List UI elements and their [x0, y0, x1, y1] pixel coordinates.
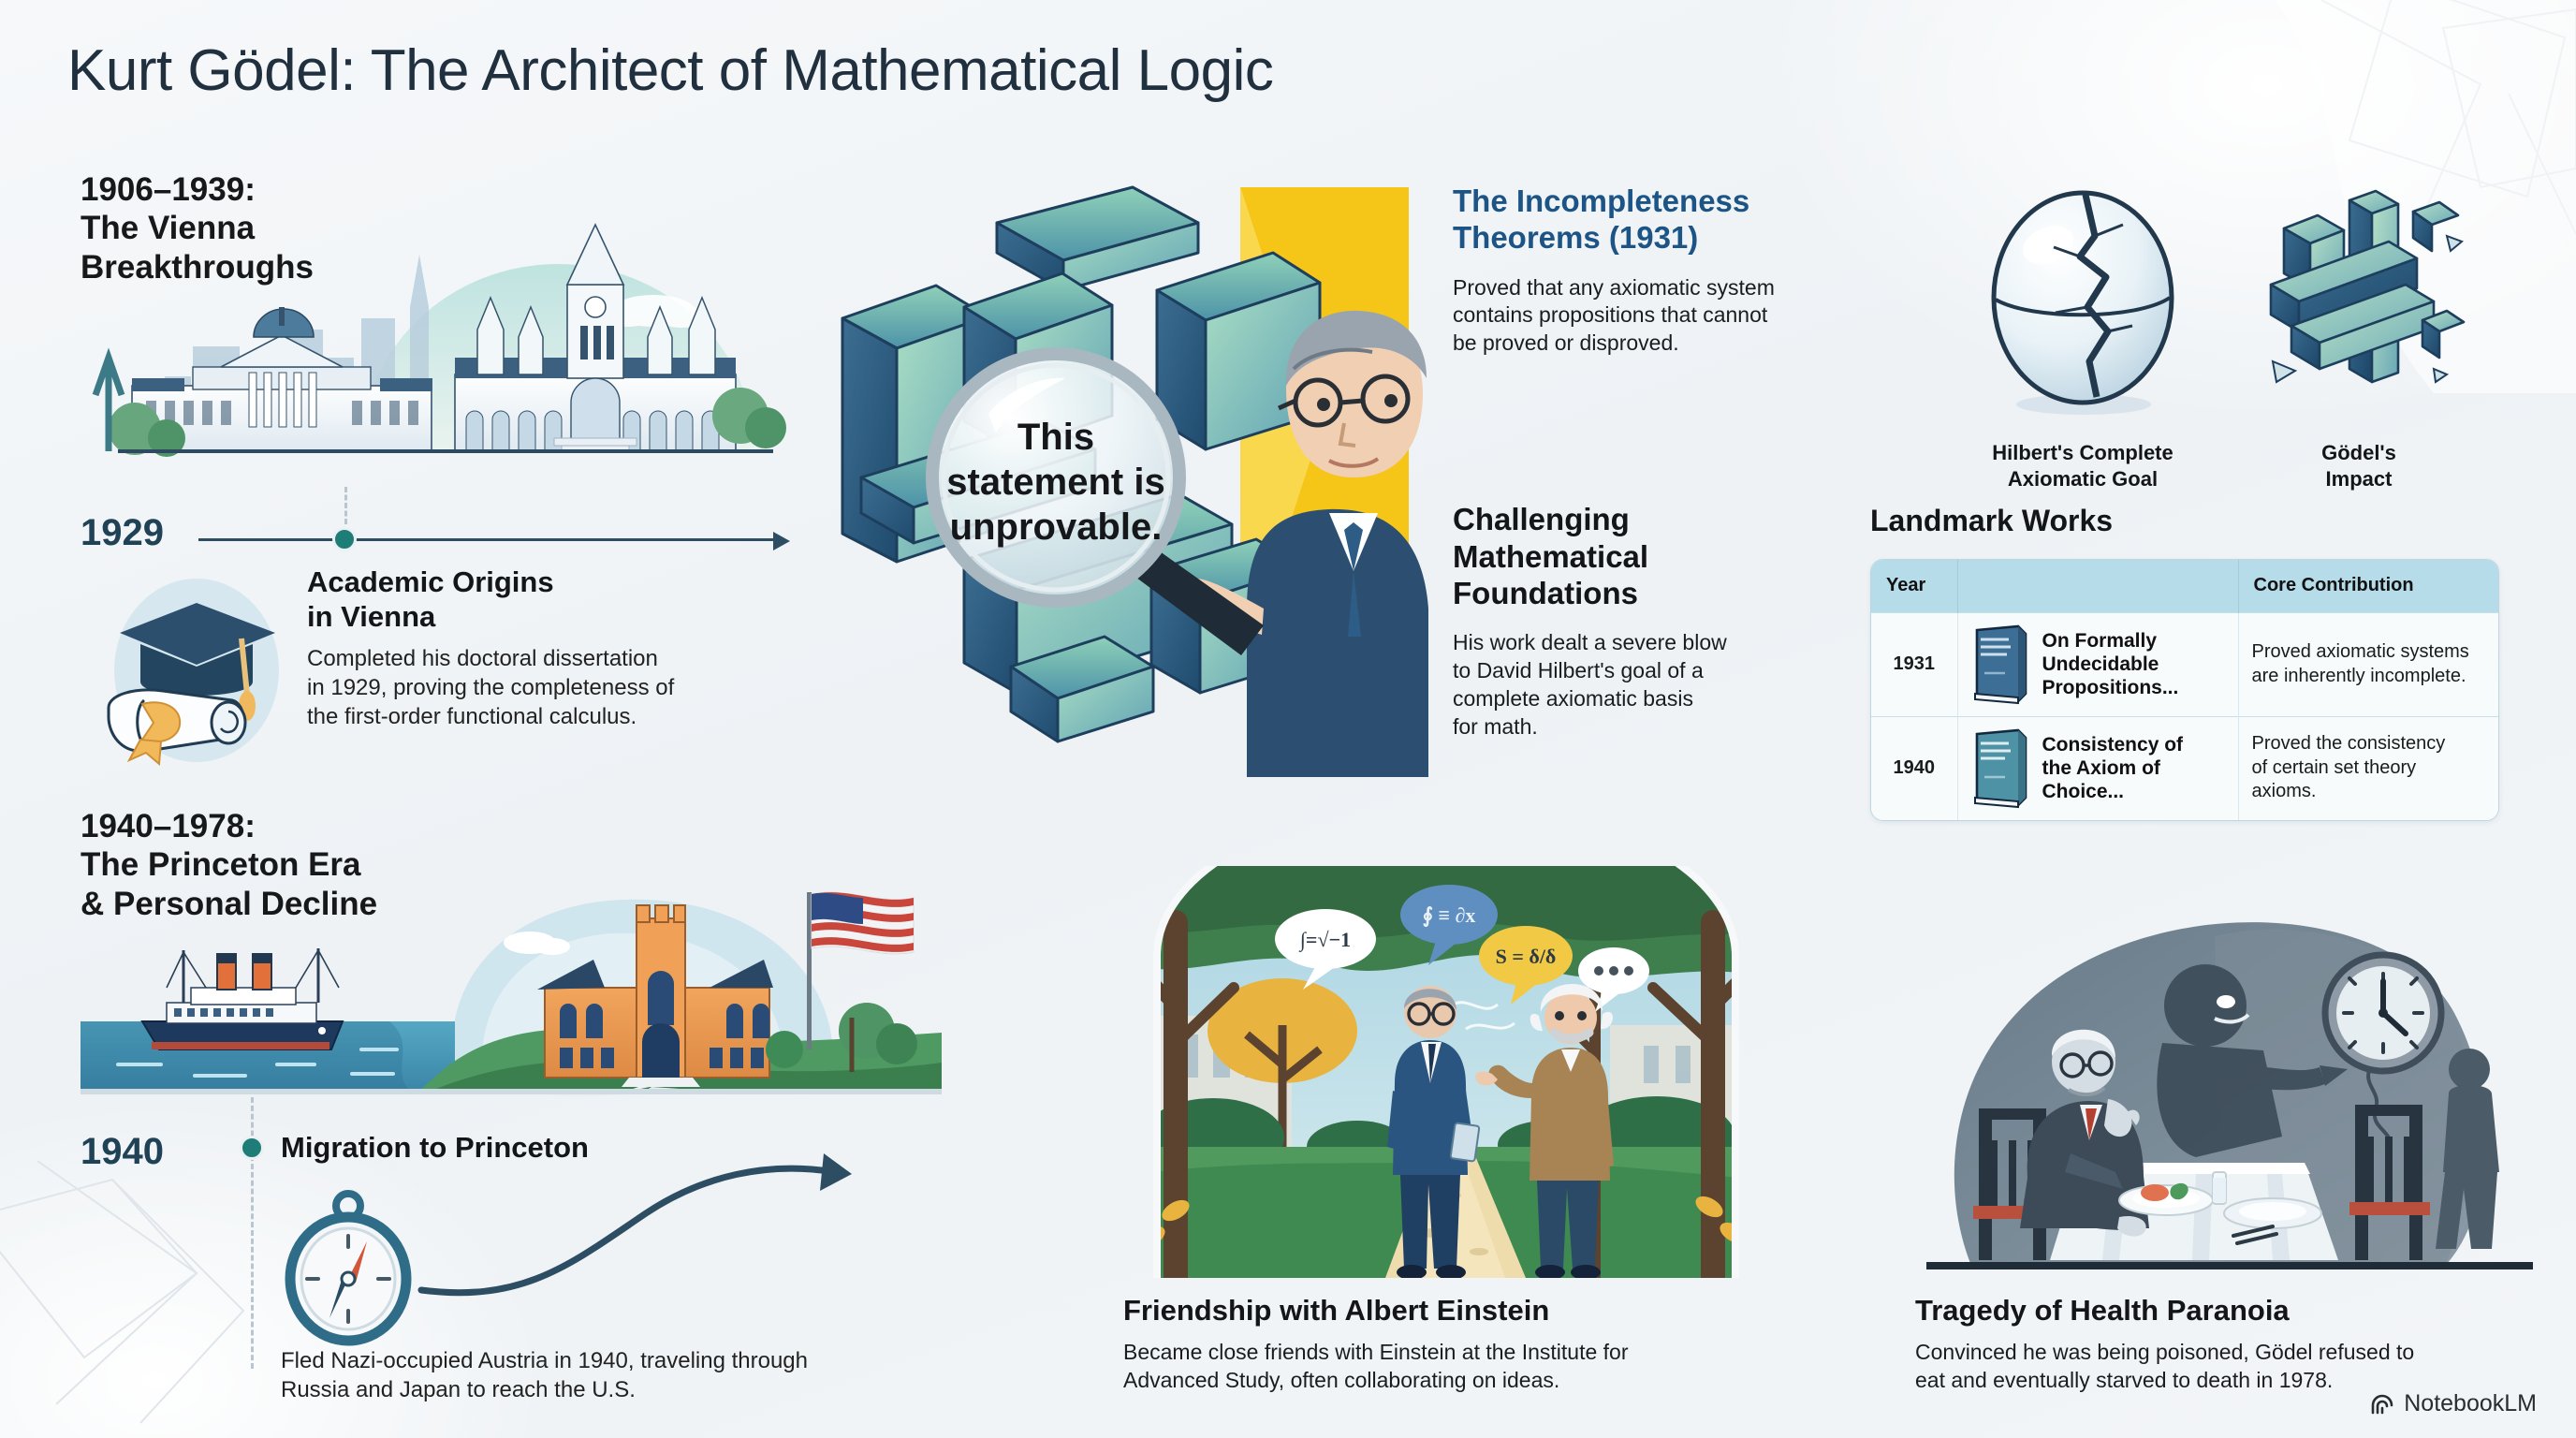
broken-lattice-icon [2239, 183, 2473, 422]
caption-body-paranoia: Convinced he was being poisoned, Gödel r… [1915, 1339, 2552, 1395]
svg-text:statement is: statement is [946, 462, 1164, 503]
work-title-1931: On Formally Undecidable Propositions... [2042, 629, 2179, 700]
notebooklm-label: NotebookLM [2404, 1390, 2537, 1417]
cell-work-1931: On Formally Undecidable Propositions... [1957, 612, 2238, 716]
icon-caption-hilbert-goal: Hilbert's Complete Axiomatic Goal [1928, 440, 2237, 492]
svg-text:S = δ/δ: S = δ/δ [1496, 945, 1557, 968]
caption-title-einstein: Friendship with Albert Einstein [1123, 1294, 1549, 1328]
incompleteness-theorems-title: The Incompleteness Theorems (1931) [1453, 183, 1749, 257]
cell-work-1940: Consistency of the Axiom of Choice... [1957, 716, 2238, 820]
cell-year-1931: 1931 [1871, 612, 1957, 716]
cracked-sphere-icon [1975, 187, 2190, 421]
graduation-cap-diploma-icon [92, 567, 298, 769]
godel-dining-shadow-clock-illustration [1915, 891, 2544, 1275]
godel-impossible-cube-magnifier-illustration: This statement is unprovable. [824, 169, 1432, 777]
table-row: 1931 On Forma [1871, 612, 2498, 716]
migration-curved-arrow [412, 1152, 880, 1339]
godel-einstein-walking-park-illustration: ∫=√−1 ∮ ≡ ∂x S = δ/δ [1123, 866, 1769, 1278]
notebooklm-watermark: NotebookLM [2369, 1390, 2537, 1417]
work-title-1940: Consistency of the Axiom of Choice... [2042, 733, 2184, 804]
book-icon [1971, 624, 2029, 705]
svg-text:∮ ≡ ∂x: ∮ ≡ ∂x [1423, 903, 1476, 928]
block-body-academic-origins: Completed his doctoral dissertation in 1… [307, 644, 794, 732]
caption-body-einstein: Became close friends with Einstein at th… [1123, 1339, 1778, 1395]
icon-caption-godel-impact: Gödel's Impact [2247, 440, 2471, 492]
cell-contribution-1940: Proved the consistency of certain set th… [2238, 716, 2498, 820]
svg-text:This: This [1017, 417, 1094, 458]
block-title-migration: Migration to Princeton [281, 1131, 589, 1166]
timeline-year-1929: 1929 [80, 512, 164, 554]
timeline-arrowhead-1 [773, 532, 790, 550]
book-icon [1971, 728, 2029, 809]
cell-contribution-1931: Proved axiomatic systems are inherently … [2238, 612, 2498, 716]
column-header-work [1957, 560, 2238, 612]
challenging-foundations-title: Challenging Mathematical Foundations [1453, 501, 1648, 612]
block-body-migration: Fled Nazi-occupied Austria in 1940, trav… [281, 1346, 861, 1404]
column-header-year: Year [1871, 560, 1957, 612]
princeton-campus-ocean-liner-illustration [80, 847, 942, 1100]
table-header-row: Year Core Contribution [1871, 560, 2498, 612]
timeline-year-1940: 1940 [80, 1131, 164, 1173]
cell-year-1940: 1940 [1871, 716, 1957, 820]
timeline-marker-1929 [332, 527, 357, 551]
page-title: Kurt Gödel: The Architect of Mathematica… [67, 37, 1273, 104]
timeline-marker-1940 [240, 1136, 264, 1160]
timeline-connector-dash-1 [344, 487, 347, 524]
notebooklm-logo-icon [2369, 1392, 2395, 1416]
infographic-poster: Kurt Gödel: The Architect of Mathematica… [0, 0, 2576, 1438]
table-row: 1940 Consiste [1871, 716, 2498, 820]
svg-text:unprovable.: unprovable. [950, 506, 1163, 548]
svg-text:∫=√−1: ∫=√−1 [1298, 928, 1351, 952]
compass-icon [270, 1178, 429, 1346]
landmark-works-table: Year Core Contribution 1931 [1870, 559, 2499, 821]
incompleteness-theorems-body: Proved that any axiomatic system contain… [1453, 274, 1818, 357]
column-header-contribution: Core Contribution [2238, 560, 2498, 612]
challenging-foundations-body: His work dealt a severe blow to David Hi… [1453, 629, 1790, 741]
timeline-axis-1 [198, 538, 779, 541]
landmark-works-title: Landmark Works [1870, 504, 2113, 538]
vienna-cityscape-illustration [80, 217, 829, 479]
block-title-academic-origins: Academic Origins in Vienna [307, 565, 554, 634]
caption-title-paranoia: Tragedy of Health Paranoia [1915, 1294, 2290, 1328]
